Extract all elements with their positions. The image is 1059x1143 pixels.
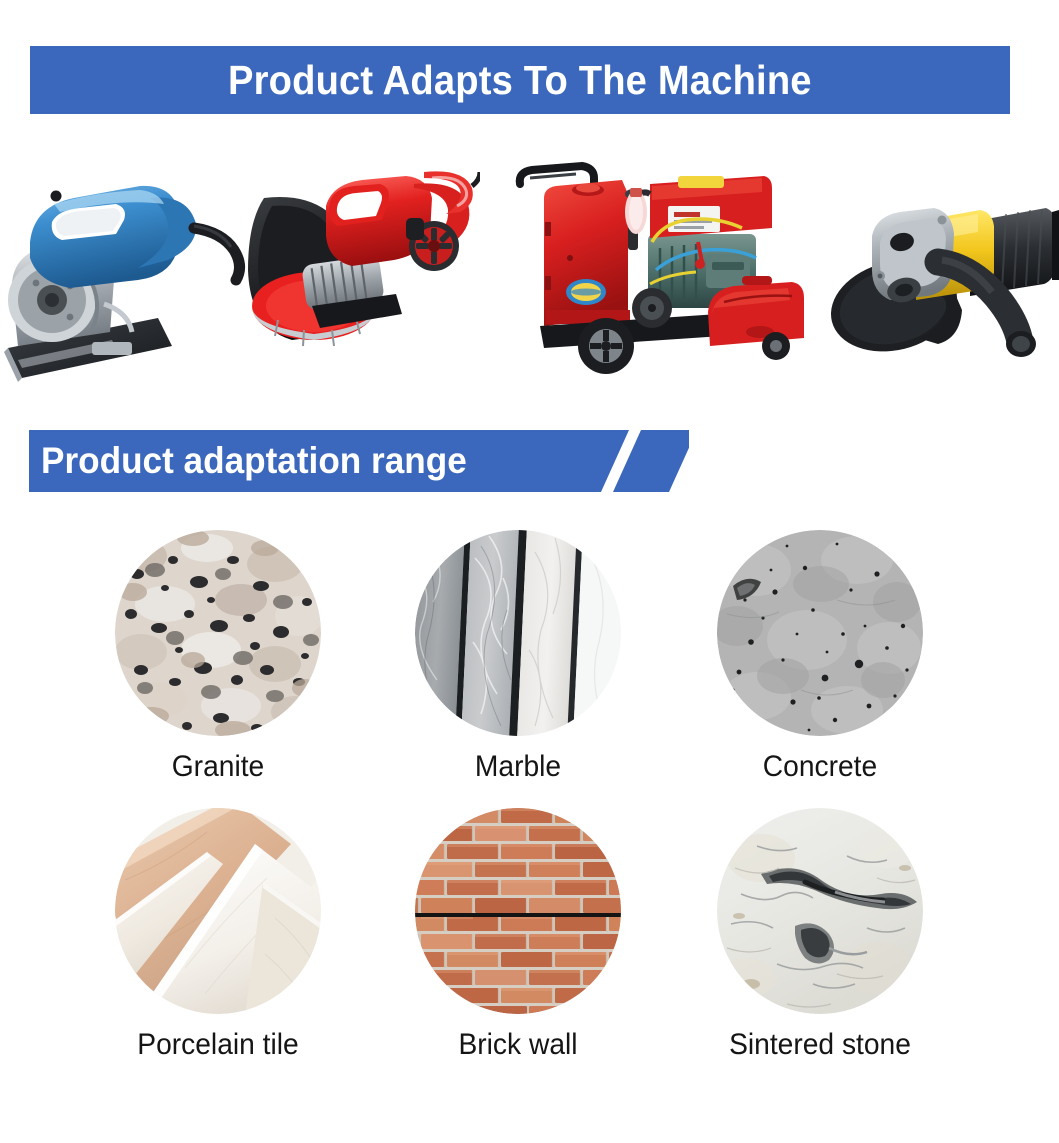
material-label: Concrete xyxy=(707,750,933,784)
material-item-sintered-stone[interactable]: Sintered stone xyxy=(700,808,940,1062)
sintered-stone-texture-icon xyxy=(717,808,923,1014)
machine-photo-strip xyxy=(0,150,1059,400)
marble-swatch xyxy=(415,530,621,736)
material-item-marble[interactable]: Marble xyxy=(398,530,638,784)
material-item-granite[interactable]: Granite xyxy=(98,530,338,784)
concrete-swatch xyxy=(717,530,923,736)
material-label: Marble xyxy=(405,750,631,784)
concrete-texture-icon xyxy=(717,530,923,736)
machine-photo-angle-grinder xyxy=(820,150,1059,400)
material-grid: Granite xyxy=(0,530,1059,1086)
brick-wall-texture-icon xyxy=(415,808,621,1014)
brick-wall-swatch xyxy=(415,808,621,1014)
section-title: Product adaptation range xyxy=(41,430,467,492)
concrete-cut-off-saw-icon xyxy=(228,150,480,400)
material-item-porcelain-tile[interactable]: Porcelain tile xyxy=(98,808,338,1062)
marble-texture-icon xyxy=(415,530,621,736)
diesel-road-cutter-icon xyxy=(510,150,820,400)
granite-swatch xyxy=(115,530,321,736)
section-header-adaptation-range: Product adaptation range xyxy=(29,430,689,492)
machine-photo-concrete-cut-off-saw xyxy=(228,150,480,400)
material-item-concrete[interactable]: Concrete xyxy=(700,530,940,784)
machine-photo-marble-cutter-saw xyxy=(0,150,265,400)
porcelain-tile-swatch xyxy=(115,808,321,1014)
porcelain-tile-texture-icon xyxy=(115,808,321,1014)
material-label: Granite xyxy=(105,750,331,784)
material-item-brick-wall[interactable]: Brick wall xyxy=(398,808,638,1062)
page-title: Product Adapts To The Machine xyxy=(228,57,812,104)
material-row: Granite xyxy=(0,530,1059,808)
material-label: Porcelain tile xyxy=(105,1028,331,1062)
material-row: Porcelain tile xyxy=(0,808,1059,1086)
material-label: Brick wall xyxy=(405,1028,631,1062)
machine-photo-diesel-road-cutter xyxy=(510,150,820,400)
granite-texture-icon xyxy=(115,530,321,736)
marble-cutter-saw-icon xyxy=(0,150,265,400)
material-label: Sintered stone xyxy=(707,1028,933,1062)
angle-grinder-icon xyxy=(820,150,1059,400)
sintered-stone-swatch xyxy=(717,808,923,1014)
header-banner: Product Adapts To The Machine xyxy=(30,46,1010,114)
